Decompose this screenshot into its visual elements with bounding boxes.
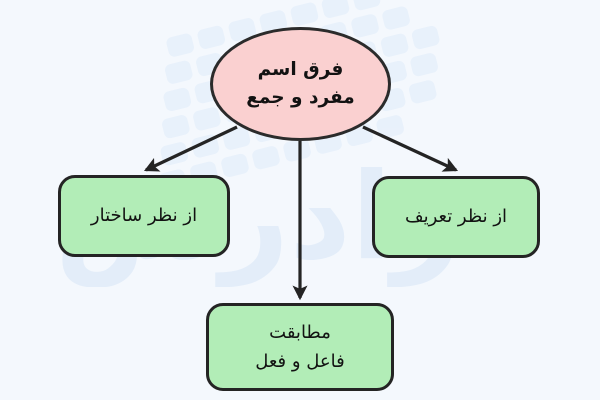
node-agreement-line-2: فاعل و فعل [255,347,345,376]
node-agreement[interactable]: مطابقت فاعل و فعل [206,303,394,391]
node-definition[interactable]: از نظر تعریف [372,176,540,258]
node-structure[interactable]: از نظر ساختار [58,175,230,257]
diagram-canvas: فرادرس فرق اسم مفرد و جمع از نظر ساختار … [0,0,600,400]
node-root-line-1: فرق اسم [258,56,344,84]
node-structure-label: از نظر ساختار [91,203,197,229]
edge-root-structure [146,127,237,170]
edge-root-definition [363,127,456,170]
node-root-line-2: مفرد و جمع [246,84,355,112]
node-agreement-line-1: مطابقت [269,318,331,347]
node-definition-label: از نظر تعریف [405,204,507,230]
node-root-topic[interactable]: فرق اسم مفرد و جمع [210,27,391,141]
